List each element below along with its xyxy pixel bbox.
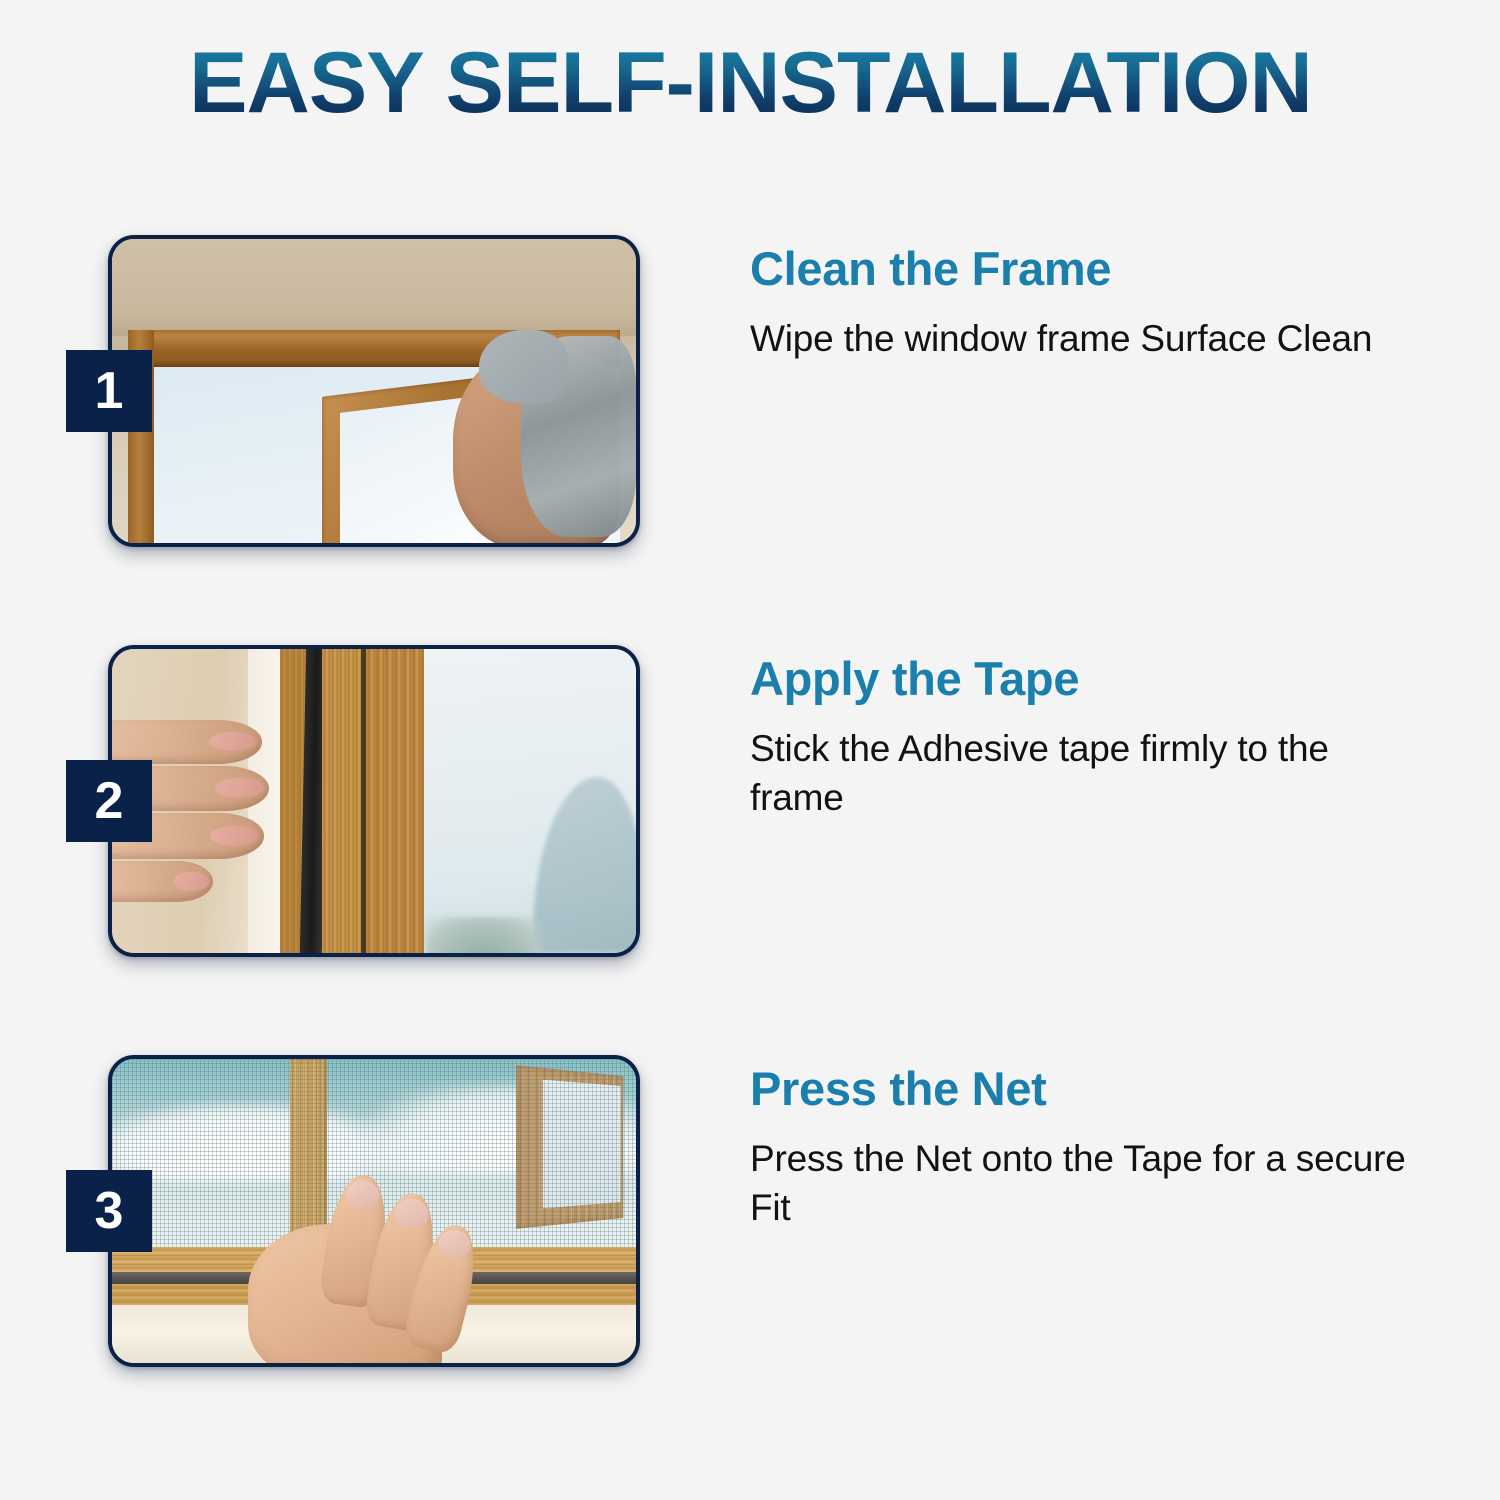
fingernail xyxy=(209,732,256,751)
step-heading-3: Press the Net xyxy=(750,1063,1430,1115)
finger xyxy=(112,720,262,763)
fingernail xyxy=(210,826,258,846)
open-window-sash-glass xyxy=(543,1080,621,1208)
step-photo-3 xyxy=(112,1059,636,1363)
foliage-view xyxy=(426,917,541,953)
step-heading-1: Clean the Frame xyxy=(750,243,1430,295)
step-photo-2 xyxy=(112,649,636,953)
step-text-1: Clean the Frame Wipe the window frame Su… xyxy=(750,243,1430,364)
fingernail xyxy=(174,872,208,890)
step-image-card-2 xyxy=(108,645,640,957)
step-body-3: Press the Net onto the Tape for a secure… xyxy=(750,1135,1430,1233)
step-body-1: Wipe the window frame Surface Clean xyxy=(750,315,1430,364)
cloth-fold-illustration xyxy=(479,330,568,403)
step-body-2: Stick the Adhesive tape firmly to the fr… xyxy=(750,725,1430,823)
ceiling-surface xyxy=(112,239,636,336)
fingernail xyxy=(215,778,264,798)
step-heading-2: Apply the Tape xyxy=(750,653,1430,705)
page-title: EASY SELF-INSTALLATION xyxy=(189,38,1312,128)
step-text-3: Press the Net Press the Net onto the Tap… xyxy=(750,1063,1430,1232)
fingernail xyxy=(344,1179,381,1212)
fingernail xyxy=(393,1197,431,1232)
step-number-badge-3: 3 xyxy=(66,1170,152,1252)
step-image-card-1 xyxy=(108,235,640,547)
step-text-2: Apply the Tape Stick the Adhesive tape f… xyxy=(750,653,1430,822)
window-glass xyxy=(421,649,636,953)
window-frame-mid xyxy=(322,649,364,953)
window-frame-outer xyxy=(366,649,424,953)
mountain-view xyxy=(533,777,636,953)
step-image-card-3 xyxy=(108,1055,640,1367)
step-number-badge-1: 1 xyxy=(66,350,152,432)
step-number-badge-2: 2 xyxy=(66,760,152,842)
fingernail xyxy=(436,1227,474,1262)
thumb xyxy=(112,861,213,902)
hand-illustration xyxy=(248,1162,510,1363)
step-photo-1 xyxy=(112,239,636,543)
page-title-wrapper: EASY SELF-INSTALLATION xyxy=(0,38,1500,128)
infographic-poster: EASY SELF-INSTALLATION 1 Clean the Frame… xyxy=(0,0,1500,1500)
